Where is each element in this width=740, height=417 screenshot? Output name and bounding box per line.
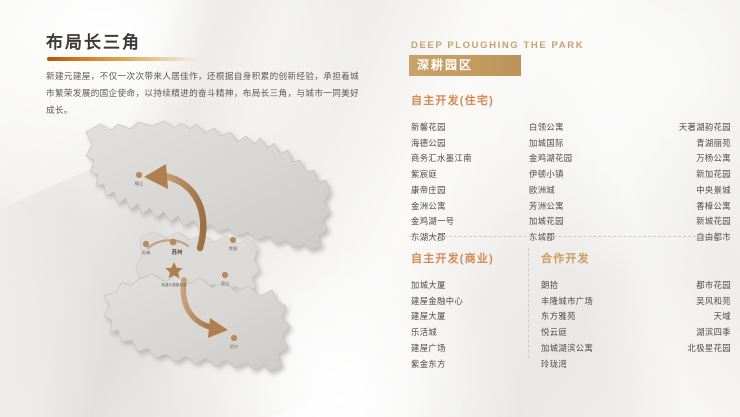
list-item: 万杨公寓 xyxy=(631,151,731,167)
list-item: 加城湖滨公寓 xyxy=(541,341,641,357)
list-item: 天著湖韵花园 xyxy=(631,120,731,136)
project-list-column: 白领公寓 加城国际 金鸡湖花园 伊顿小镇 欧洲城 芳洲公寓 加城花园 东城郡 xyxy=(529,120,631,246)
list-item: 北极星花园 xyxy=(641,341,731,357)
list-item: 新城花园 xyxy=(631,214,731,230)
list-item: 新馨花园 xyxy=(411,120,529,136)
list-item: 香樟公寓 xyxy=(631,199,731,215)
list-item: 白领公寓 xyxy=(529,120,631,136)
title-underline xyxy=(47,57,199,61)
list-item: 伊顿小镇 xyxy=(529,167,631,183)
page-title: 布局长三角 xyxy=(46,28,141,53)
list-item: 金洲公寓 xyxy=(411,199,529,215)
list-item: 东城郡 xyxy=(529,230,631,246)
list-item: 建屋金融中心 xyxy=(411,294,521,310)
map-city-label: 绍兴 xyxy=(230,343,238,350)
list-item: 金鸡湖一号 xyxy=(411,214,529,230)
slide-page: 布局长三角 新建元建屋，不仅一次次带来人居佳作，还根据自身积累的创新经验，承担着… xyxy=(0,0,740,417)
list-item: 加城花园 xyxy=(529,214,631,230)
list-item: 新加花园 xyxy=(631,167,731,183)
list-item: 加城国际 xyxy=(529,136,631,152)
project-list-column: 加城大厦 建屋金融中心 建屋大厦 乐活城 建屋广场 紫金东方 xyxy=(411,278,521,372)
list-item: 湖滨四季 xyxy=(641,325,731,341)
section-commercial: 自主开发(商业) 加城大厦 建屋金融中心 建屋大厦 乐活城 建屋广场 紫金东方 xyxy=(411,250,521,372)
list-item: 中央景城 xyxy=(631,183,731,199)
list-item: 芳洲公寓 xyxy=(529,199,631,215)
list-item: 乐活城 xyxy=(411,325,521,341)
section-cooperative: 合作开发 朗拾 丰隆城市广场 东方雅苑 悦云庭 加城湖滨公寓 玲珑湾 都市花园 … xyxy=(541,250,731,372)
list-item: 建屋大厦 xyxy=(411,309,521,325)
list-item: 自由都市 xyxy=(631,230,731,246)
list-item: 紫金东方 xyxy=(411,357,521,373)
list-item: 欧洲城 xyxy=(529,183,631,199)
project-list-column: 天著湖韵花园 青湖丽苑 万杨公寓 新加花园 中央景城 香樟公寓 新城花园 自由都… xyxy=(631,120,731,246)
list-item: 海德公园 xyxy=(411,136,529,152)
list-item: 天域 xyxy=(641,309,731,325)
list-item: 玲珑湾 xyxy=(541,357,641,373)
list-item: 建屋广场 xyxy=(411,341,521,357)
list-item: 东湖大郡 xyxy=(411,230,529,246)
map-city-label: 常熟 xyxy=(229,245,238,252)
list-item: 都市花园 xyxy=(641,278,731,294)
project-list-column: 朗拾 丰隆城市广场 东方雅苑 悦云庭 加城湖滨公寓 玲珑湾 xyxy=(541,278,641,372)
section-badge: 深耕园区 xyxy=(409,55,521,76)
map-city-label-main: 苏州 xyxy=(172,248,183,256)
list-item: 东方雅苑 xyxy=(541,309,641,325)
list-item: 丰隆城市广场 xyxy=(541,294,641,310)
section-heading: 自主开发(住宅) xyxy=(411,92,731,108)
list-item: 金鸡湖花园 xyxy=(529,151,631,167)
list-item: 吴风和苑 xyxy=(641,294,731,310)
project-list-column: 都市花园 吴风和苑 天域 湖滨四季 北极星花园 xyxy=(641,278,731,372)
map-illustration: 镇江 无锡 苏州 新建元建屋总部 常熟 昆山 xyxy=(78,120,368,405)
section-heading: 自主开发(商业) xyxy=(411,250,521,266)
map-city-label: 昆山 xyxy=(221,280,229,287)
list-item: 商务汇水墨江南 xyxy=(411,151,529,167)
intro-paragraph: 新建元建屋，不仅一次次带来人居佳作，还根据自身积累的创新经验，承担着城市繁荣发展… xyxy=(46,68,359,119)
list-item: 朗拾 xyxy=(541,278,641,294)
map-hq-label: 新建元建屋总部 xyxy=(161,282,187,287)
section-heading: 合作开发 xyxy=(541,250,731,266)
section-badge-label: 深耕园区 xyxy=(409,55,521,76)
left-panel: 布局长三角 新建元建屋，不仅一次次带来人居佳作，还根据自身积累的创新经验，承担着… xyxy=(0,0,392,417)
map-landmass xyxy=(86,121,330,292)
yangtze-delta-map: 镇江 无锡 苏州 新建元建屋总部 常熟 昆山 xyxy=(78,120,368,405)
section-residential: 自主开发(住宅) 新馨花园 海德公园 商务汇水墨江南 紫宸庭 康帝庄园 金洲公寓… xyxy=(411,92,731,246)
vertical-divider xyxy=(528,248,529,358)
map-city-label: 镇江 xyxy=(135,180,143,187)
list-item: 青湖丽苑 xyxy=(631,136,731,152)
horizontal-divider xyxy=(409,236,731,237)
list-item: 加城大厦 xyxy=(411,278,521,294)
right-panel: DEEP PLOUGHING THE PARK 深耕园区 自主开发(住宅) 新馨… xyxy=(400,0,740,417)
list-item: 康帝庄园 xyxy=(411,183,529,199)
list-item: 悦云庭 xyxy=(541,325,641,341)
map-city-label: 无锡 xyxy=(142,249,150,256)
project-list-column: 新馨花园 海德公园 商务汇水墨江南 紫宸庭 康帝庄园 金洲公寓 金鸡湖一号 东湖… xyxy=(411,120,529,246)
list-item: 紫宸庭 xyxy=(411,167,529,183)
section-eyebrow: DEEP PLOUGHING THE PARK xyxy=(411,40,584,51)
